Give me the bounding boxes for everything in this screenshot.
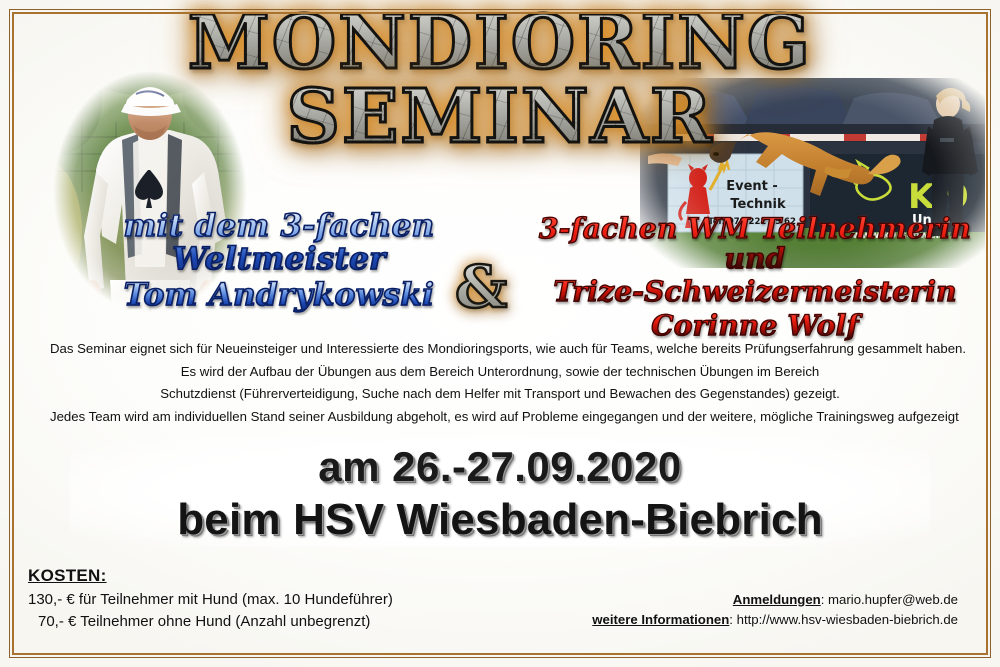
- poster-canvas: Event - Technik Tel: 079 222 65 62 K-9 U…: [0, 0, 1000, 667]
- registration-row: Anmeldungen: mario.hupfer@web.de: [592, 590, 958, 610]
- poster-title: MONDIORING SEMINAR: [0, 8, 1000, 153]
- event-venue: beim HSV Wiesbaden-Biebrich: [70, 491, 930, 545]
- title-line-mondioring: MONDIORING: [0, 8, 1000, 78]
- seminar-description: Das Seminar eignet sich für Neueinsteige…: [50, 338, 950, 428]
- title-line-seminar: SEMINAR: [0, 82, 1000, 152]
- registration-label: Anmeldungen: [733, 592, 821, 607]
- costs-line-without-dog: 70,- € Teilnehmer ohne Hund (Anzahl unbe…: [28, 612, 393, 632]
- registration-email[interactable]: mario.hupfer@web.de: [828, 592, 958, 607]
- svg-text:Event -: Event -: [726, 179, 778, 194]
- info-colon: :: [729, 612, 736, 627]
- registration-colon: :: [821, 592, 828, 607]
- info-label: weitere Informationen: [592, 612, 729, 627]
- description-line-1: Das Seminar eignet sich für Neueinsteige…: [50, 338, 950, 361]
- presenter-right-block: 3-fachen WM Teilnehmerin und Trize-Schwe…: [524, 214, 986, 344]
- event-date: am 26.-27.09.2020: [70, 437, 930, 491]
- event-date-venue-block: am 26.-27.09.2020 beim HSV Wiesbaden-Bie…: [70, 437, 930, 547]
- presenter-right-line1: 3-fachen WM Teilnehmerin und: [524, 214, 986, 274]
- presenter-right-line3: Corinne Wolf: [524, 311, 986, 341]
- costs-block: KOSTEN: 130,- € für Teilnehmer mit Hund …: [28, 566, 393, 634]
- contact-block: Anmeldungen: mario.hupfer@web.de weitere…: [592, 590, 958, 630]
- description-line-4: Jedes Team wird am individuellen Stand s…: [50, 406, 950, 429]
- presenter-right-line2: Trize-Schweizermeisterin: [524, 277, 986, 307]
- costs-line-with-dog: 130,- € für Teilnehmer mit Hund (max. 10…: [28, 590, 393, 610]
- info-url[interactable]: http://www.hsv-wiesbaden-biebrich.de: [737, 612, 958, 627]
- svg-text:Technik: Technik: [730, 197, 786, 212]
- presenter-left-line1: mit dem 3-fachen Weltmeister: [24, 210, 534, 277]
- presenter-left-block: mit dem 3-fachen Weltmeister Tom Andryko…: [24, 210, 534, 314]
- info-row: weitere Informationen: http://www.hsv-wi…: [592, 610, 958, 630]
- presenter-left-line2: Tom Andrykowski: [24, 279, 534, 312]
- costs-heading: KOSTEN:: [28, 566, 393, 586]
- description-line-3: Schutzdienst (Führerverteidigung, Suche …: [50, 383, 950, 406]
- description-line-2: Es wird der Aufbau der Übungen aus dem B…: [50, 361, 950, 384]
